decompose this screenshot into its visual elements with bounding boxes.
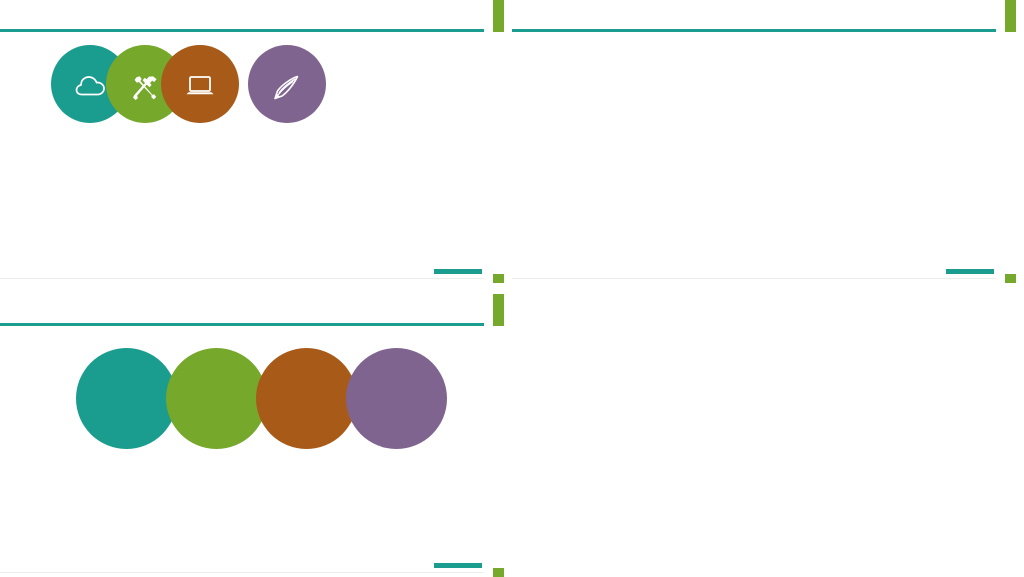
bubble-circle-4[interactable] xyxy=(346,348,447,449)
header-rule xyxy=(0,323,484,326)
header-green-accent-bar xyxy=(1005,0,1016,32)
slide-2[interactable] xyxy=(512,0,1016,283)
slide-4[interactable] xyxy=(512,294,1016,577)
footer-divider xyxy=(512,278,996,279)
tools-icon xyxy=(131,75,159,106)
item-text-02 xyxy=(157,190,257,195)
slide-4-center-block xyxy=(630,380,910,460)
footer-divider xyxy=(0,278,484,279)
footer-teal-accent-bar xyxy=(434,269,482,274)
item-text-04 xyxy=(351,190,451,195)
slide-1[interactable] xyxy=(0,0,504,283)
header-green-accent-bar xyxy=(493,0,504,32)
item-circle-04[interactable] xyxy=(248,45,326,123)
slide-2-text-panel xyxy=(810,80,986,87)
footer-green-accent-bar xyxy=(1005,274,1016,283)
header-rule xyxy=(512,29,996,32)
footer-green-accent-bar xyxy=(493,568,504,577)
progress-bar-chart xyxy=(556,83,796,213)
item-circle-03[interactable] xyxy=(161,45,239,123)
footer-teal-accent-bar xyxy=(434,563,482,568)
slide-3[interactable] xyxy=(0,294,504,577)
bubble-circle-3[interactable] xyxy=(256,348,357,449)
slide-2-header xyxy=(512,0,1016,30)
footer-teal-accent-bar xyxy=(946,269,994,274)
cloud-icon xyxy=(75,75,105,102)
footer-divider xyxy=(0,572,484,573)
slide-1-header xyxy=(0,0,504,30)
header-green-accent-bar xyxy=(493,294,504,326)
slide-thumbnail-grid xyxy=(0,0,1024,577)
item-text-01 xyxy=(60,190,160,195)
pen-icon xyxy=(273,75,301,106)
item-text-03 xyxy=(254,190,354,195)
header-rule xyxy=(0,29,484,32)
bubble-circle-1[interactable] xyxy=(76,348,177,449)
slide-3-header xyxy=(0,294,504,324)
laptop-icon xyxy=(185,75,215,104)
bubble-circle-2[interactable] xyxy=(166,348,267,449)
footer-green-accent-bar xyxy=(493,274,504,283)
